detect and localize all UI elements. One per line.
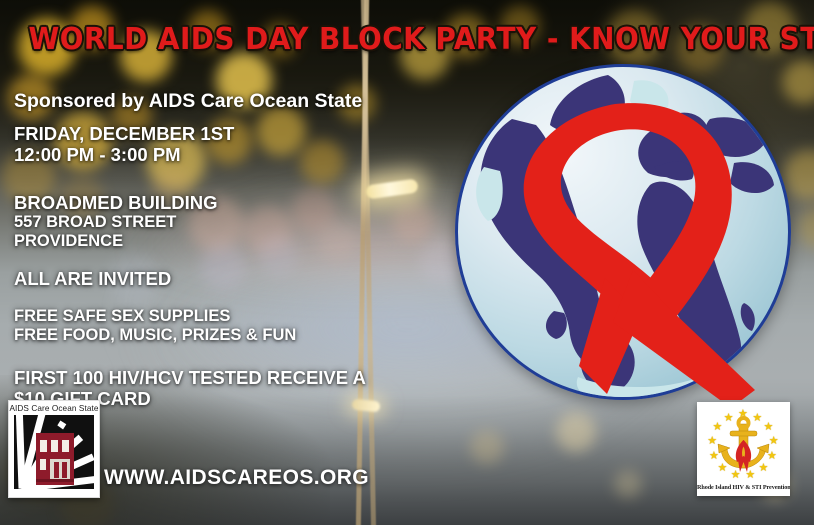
- offer-line-1: FREE SAFE SEX SUPPLIES: [14, 307, 434, 326]
- logo-left-title: AIDS Care Ocean State: [9, 401, 99, 413]
- globe-ribbon-graphic: [455, 64, 791, 400]
- invitation-line: ALL ARE INVITED: [14, 268, 434, 289]
- event-date: FRIDAY, DECEMBER 1ST: [14, 123, 434, 144]
- venue-city: PROVIDENCE: [14, 232, 434, 251]
- venue-name: BROADMED BUILDING: [14, 192, 434, 213]
- logo-right-caption: Rhode Island HIV & STI Prevention Coalit…: [697, 484, 790, 491]
- poster-body: Sponsored by AIDS Care Ocean State FRIDA…: [14, 90, 434, 410]
- sponsor-line: Sponsored by AIDS Care Ocean State: [14, 90, 434, 113]
- incentive-line-1: FIRST 100 HIV/HCV TESTED RECEIVE A: [14, 367, 434, 388]
- anchor-ribbon-icon: [697, 402, 790, 496]
- website-url[interactable]: WWW.AIDSCAREOS.ORG: [104, 466, 369, 490]
- aids-care-ocean-state-logo[interactable]: AIDS Care Ocean State: [8, 400, 100, 498]
- venue-street: 557 BROAD STREET: [14, 213, 434, 232]
- background-bottom-shade: [0, 395, 814, 525]
- page-title: WORLD AIDS DAY BLOCK PARTY - KNOW YOUR S…: [28, 22, 785, 57]
- aids-ribbon-icon: [455, 64, 791, 400]
- rhode-island-coalition-logo[interactable]: ★★★★★★★★★★★★★ Rhode Island HIV & STI Pre…: [697, 402, 790, 496]
- offer-line-2: FREE FOOD, MUSIC, PRIZES & FUN: [14, 326, 434, 345]
- event-time: 12:00 PM - 3:00 PM: [14, 144, 434, 165]
- poster-canvas: WORLD AIDS DAY BLOCK PARTY - KNOW YOUR S…: [0, 0, 814, 525]
- house-sunburst-icon: [14, 415, 94, 489]
